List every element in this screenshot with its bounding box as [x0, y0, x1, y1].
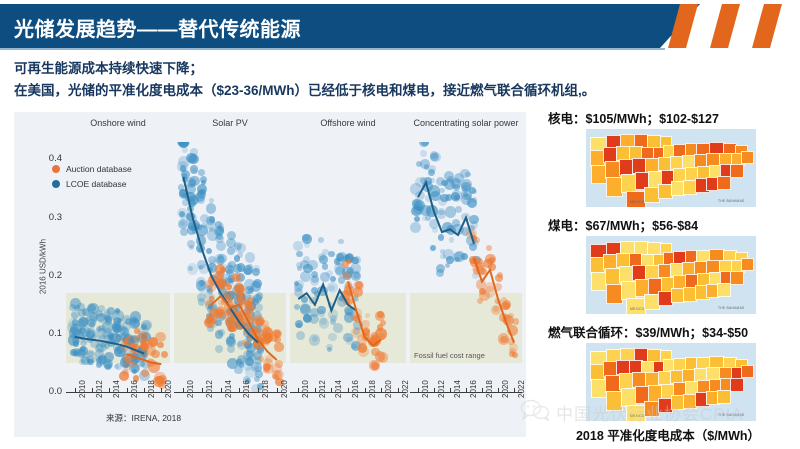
legend-dot-auction: [52, 165, 60, 173]
x-tick-label: 2020: [384, 380, 393, 398]
map-label-bahamas: THE BAHAMAS: [718, 199, 745, 203]
x-tick-label: 2010: [186, 380, 195, 398]
x-tick-label: 2022: [517, 380, 526, 398]
x-tick-label: 2012: [318, 380, 327, 398]
legend-dot-lcoe: [52, 180, 60, 188]
trend-lines: [290, 142, 406, 392]
x-tick: [239, 388, 240, 392]
map-label-bahamas: THE BAHAMAS: [718, 306, 745, 310]
cost-map-label-nuclear: 核电：$105/MWh；$102-$127: [548, 108, 796, 127]
x-tick-label: 2012: [205, 380, 214, 398]
y-tick-label: 0.3: [40, 212, 62, 223]
x-tick: [298, 388, 299, 392]
chart-source: 来源：IRENA, 2018: [106, 412, 181, 424]
header-underline: [0, 48, 665, 50]
x-tick-label: 2016: [242, 380, 251, 398]
chart-panel-title: Concentrating solar power: [410, 118, 522, 128]
x-tick: [202, 388, 203, 392]
x-tick: [221, 388, 222, 392]
lcoe-trend-line: [418, 183, 474, 244]
x-tick: [109, 388, 110, 392]
page-title: 光储发展趋势——替代传统能源: [14, 13, 301, 42]
x-tick: [75, 388, 76, 392]
us-cost-map-coal: MEXICOTHE BAHAMAS: [586, 236, 756, 314]
body-line-1: 可再生能源成本持续快速下降；: [14, 58, 794, 80]
auction-trend-line: [348, 282, 381, 346]
map-state-region: [741, 365, 754, 378]
header-stripe-2: [710, 4, 750, 48]
header-stripe-3: [752, 4, 792, 48]
watermark: 中国光伏行业协会CPIA: [520, 398, 800, 426]
map-label-mexico: MEXICO: [630, 200, 645, 204]
x-tick-label: 2010: [301, 380, 310, 398]
map-state-region: [626, 191, 646, 207]
auction-trend-line: [127, 354, 162, 364]
cost-map-label-gas: 燃气联合循环：$39/MWh；$34-$50: [548, 322, 796, 341]
x-tick: [398, 388, 399, 392]
x-tick: [482, 388, 483, 392]
us-cost-map-nuclear: MEXICOTHE BAHAMAS: [586, 129, 756, 207]
map-state-region: [730, 378, 744, 392]
x-tick-label: 2012: [437, 380, 446, 398]
map-state-region: [730, 271, 744, 285]
x-tick-label: 2020: [164, 380, 173, 398]
legend-item-lcoe: LCOE database: [52, 179, 132, 189]
x-tick-label: 2014: [112, 380, 121, 398]
x-tick: [365, 388, 366, 392]
x-tick: [348, 388, 349, 392]
slide-header: 光储发展趋势——替代传统能源: [0, 0, 800, 52]
x-tick-label: 2016: [130, 380, 139, 398]
x-tick-label: 2020: [280, 380, 289, 398]
x-tick: [258, 388, 259, 392]
y-tick-label: 0.4: [40, 153, 62, 164]
x-tick-label: 2018: [261, 380, 270, 398]
x-tick-label: 2014: [224, 380, 233, 398]
x-tick: [315, 388, 316, 392]
y-tick-label: 0.2: [40, 270, 62, 281]
legend-label-auction: Auction database: [66, 164, 132, 174]
x-tick: [498, 388, 499, 392]
trend-lines: [174, 142, 286, 392]
map-state-region: [730, 164, 744, 178]
x-tick: [331, 388, 332, 392]
cost-map-group-nuclear: 核电：$105/MWh；$102-$127 MEXICOTHE BAHAMAS: [540, 108, 796, 207]
y-tick-label: 0.1: [40, 328, 62, 339]
x-tick-label: 2022: [401, 380, 410, 398]
lcoe-trend-line: [75, 337, 144, 354]
x-tick: [514, 388, 515, 392]
x-tick-label: 2010: [78, 380, 87, 398]
x-tick-label: 2014: [334, 380, 343, 398]
map-label-mexico: MEXICO: [630, 307, 645, 311]
chart-panel: [174, 142, 286, 392]
map-state-region: [717, 283, 731, 297]
cost-map-label-coal: 煤电：$67/MWh；$56-$84: [548, 215, 796, 234]
x-tick-label: 2018: [147, 380, 156, 398]
irena-cost-chart: 2016 USD/kWh 0.00.10.20.30.4 Onshore win…: [14, 112, 526, 437]
x-tick-label: 2012: [95, 380, 104, 398]
y-tick-label: 0.0: [40, 386, 62, 397]
chart-panel-title: Offshore wind: [290, 118, 406, 128]
x-tick: [127, 388, 128, 392]
trend-lines: [410, 142, 522, 392]
chart-panel: Fossil fuel cost range: [410, 142, 522, 392]
cost-map-group-coal: 煤电：$67/MWh；$56-$84 MEXICOTHE BAHAMAS: [540, 215, 796, 314]
x-tick: [450, 388, 451, 392]
map-state-region: [741, 258, 754, 271]
x-tick: [161, 388, 162, 392]
x-tick-label: 2014: [453, 380, 462, 398]
map-state-region: [741, 151, 754, 164]
x-tick: [434, 388, 435, 392]
x-tick: [381, 388, 382, 392]
x-tick-label: 2020: [501, 380, 510, 398]
x-tick: [277, 388, 278, 392]
legend-label-lcoe: LCOE database: [66, 179, 126, 189]
map-state-region: [717, 176, 731, 190]
x-tick: [92, 388, 93, 392]
chart-panel: [290, 142, 406, 392]
watermark-text: 中国光伏行业协会CPIA: [556, 400, 744, 425]
body-line-2: 在美国，光储的平准化度电成本（$23-36/MWh）已经低于核电和煤电，接近燃气…: [14, 80, 794, 102]
body-text: 可再生能源成本持续快速下降； 在美国，光储的平准化度电成本（$23-36/MWh…: [14, 58, 794, 102]
chart-panel-title: Onshore wind: [66, 118, 170, 128]
x-tick: [418, 388, 419, 392]
auction-trend-line: [474, 258, 514, 342]
chart-y-axis-label: 2016 USD/kWh: [39, 222, 48, 312]
wechat-icon: [520, 399, 550, 426]
chart-panel-title: Solar PV: [174, 118, 286, 128]
x-tick-label: 2016: [469, 380, 478, 398]
cost-map-column: 核电：$105/MWh；$102-$127 MEXICOTHE BAHAMAS …: [540, 108, 796, 429]
x-tick: [183, 388, 184, 392]
chart-legend: Auction database LCOE database: [52, 164, 132, 194]
x-tick-label: 2016: [351, 380, 360, 398]
x-tick: [144, 388, 145, 392]
x-tick-label: 2018: [368, 380, 377, 398]
cost-map-caption: 2018 平准化度电成本（$/MWh）: [540, 425, 796, 444]
legend-item-auction: Auction database: [52, 164, 132, 174]
x-tick: [466, 388, 467, 392]
map-state-region: [626, 298, 646, 314]
x-tick-label: 2010: [421, 380, 430, 398]
x-tick-label: 2018: [485, 380, 494, 398]
lcoe-trend-line: [298, 284, 356, 310]
